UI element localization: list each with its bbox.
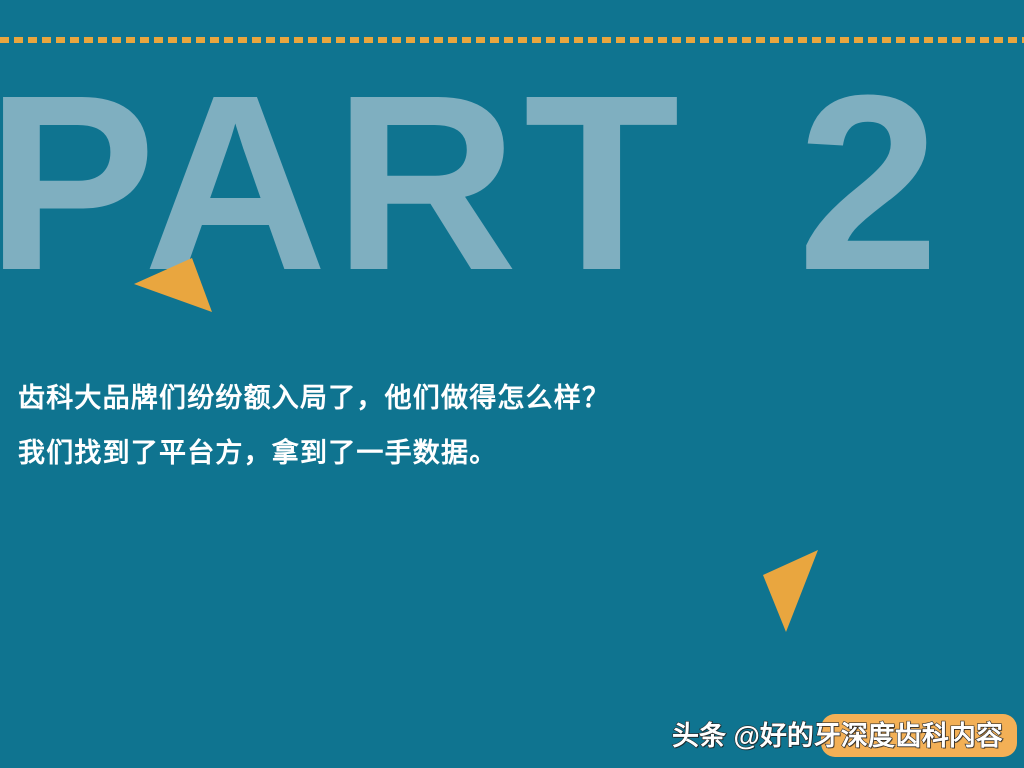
headline-line-2: 我们找到了平台方，拿到了一手数据。 [18, 426, 998, 481]
wordmark-spacer [686, 43, 798, 322]
slide-canvas: PART 2 齿科大品牌们纷纷额入局了，他们做得怎么样？ 我们找到了平台方，拿到… [0, 0, 1024, 768]
headline-line-1: 齿科大品牌们纷纷额入局了，他们做得怎么样？ [18, 371, 998, 426]
part-wordmark: PART 2 [0, 58, 1024, 308]
watermark: 头条 @好的牙深度齿科内容 [672, 708, 1024, 764]
wordmark-number: 2 [797, 43, 945, 322]
headline-block: 齿科大品牌们纷纷额入局了，他们做得怎么样？ 我们找到了平台方，拿到了一手数据。 [18, 371, 998, 481]
wordmark-part-label: PART [0, 43, 686, 322]
orange-triangle-right [752, 540, 832, 645]
watermark-text: 头条 @好的牙深度齿科内容 [672, 708, 1024, 764]
